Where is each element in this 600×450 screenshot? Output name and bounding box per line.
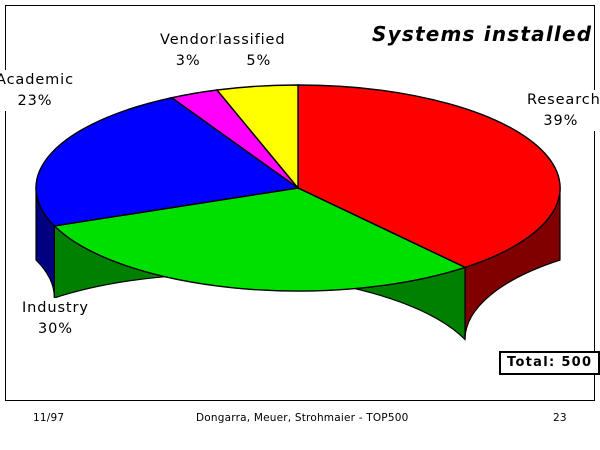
footer-page-number: 23 [553,412,567,424]
footer-credit: Dongarra, Meuer, Strohmaier - TOP500 [196,412,408,424]
presentation-slide: Systems installed Research 39% Academic … [0,0,600,450]
pie-chart-3d [0,0,600,450]
footer-date: 11/97 [33,412,64,424]
slice-label-vendor-pct: 3% [160,51,216,72]
slice-label-vendor-name: Vendor [160,32,216,48]
slice-label-academic-name: Academic [0,72,74,88]
slice-label-industry-name: Industry [22,300,89,316]
slice-label-research-pct: 39% [521,111,600,132]
slice-label-industry: Industry 30% [20,298,91,340]
slice-label-classified-pct: 5% [232,51,285,72]
slice-label-classified: Classified 5% [207,30,285,71]
pie-top-faces [36,85,560,291]
slice-label-academic-pct: 23% [0,91,74,112]
slice-label-academic: Academic 23% [0,70,74,111]
slice-label-research-name: Research [527,92,600,108]
slice-label-research: Research 39% [527,90,600,131]
slice-label-classified-name: Classified [207,32,285,48]
slice-label-vendor: Vendor 3% [160,30,216,71]
total-badge: Total: 500 [499,351,600,375]
slice-label-industry-pct: 30% [22,319,89,340]
